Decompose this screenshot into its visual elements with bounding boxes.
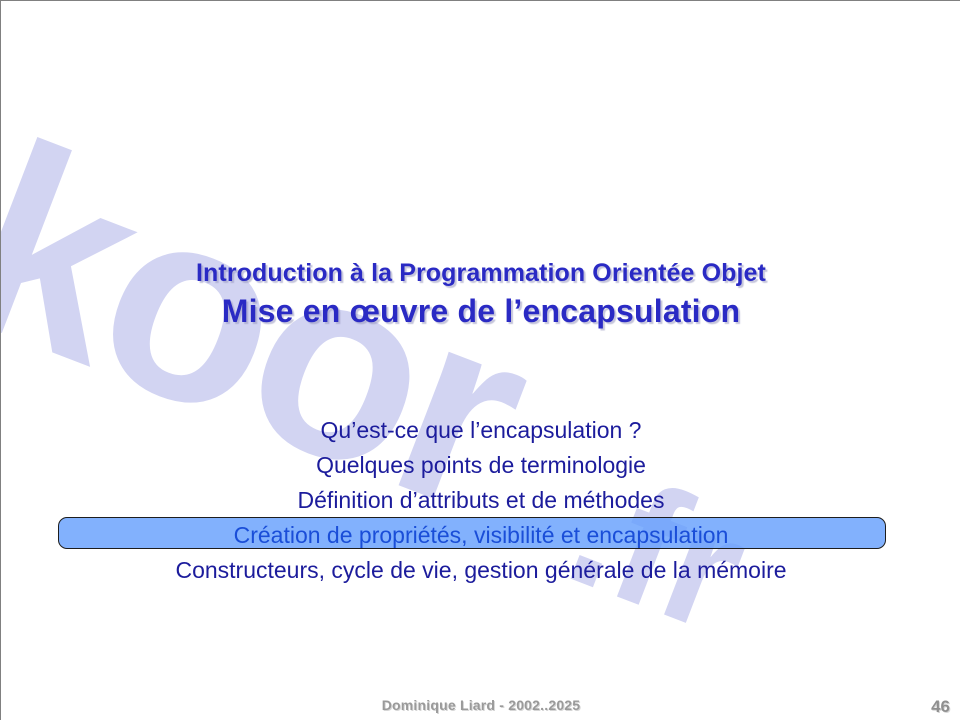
slide-title-main: Mise en œuvre de l’encapsulation <box>1 291 960 331</box>
slide-footer: Dominique Liard - 2002..2025 46 <box>1 697 960 720</box>
footer-author-text: Dominique Liard - 2002..2025 <box>1 697 960 713</box>
agenda-item-3: Définition d’attributs et de méthodes <box>1 483 960 518</box>
slide-canvas: koor .fr Introduction à la Programmation… <box>0 0 960 720</box>
footer-page-number: 46 <box>931 697 950 717</box>
agenda-list: Qu’est-ce que l’encapsulation ? Quelques… <box>1 413 960 588</box>
slide-title-subtitle: Introduction à la Programmation Orientée… <box>1 259 960 289</box>
agenda-item-1: Qu’est-ce que l’encapsulation ? <box>1 413 960 448</box>
slide-title-block: Introduction à la Programmation Orientée… <box>1 259 960 331</box>
agenda-item-4-current: Création de propriétés, visibilité et en… <box>1 518 960 553</box>
agenda-item-5: Constructeurs, cycle de vie, gestion gén… <box>1 553 960 588</box>
agenda-item-2: Quelques points de terminologie <box>1 448 960 483</box>
slide-content: Introduction à la Programmation Orientée… <box>1 1 960 720</box>
